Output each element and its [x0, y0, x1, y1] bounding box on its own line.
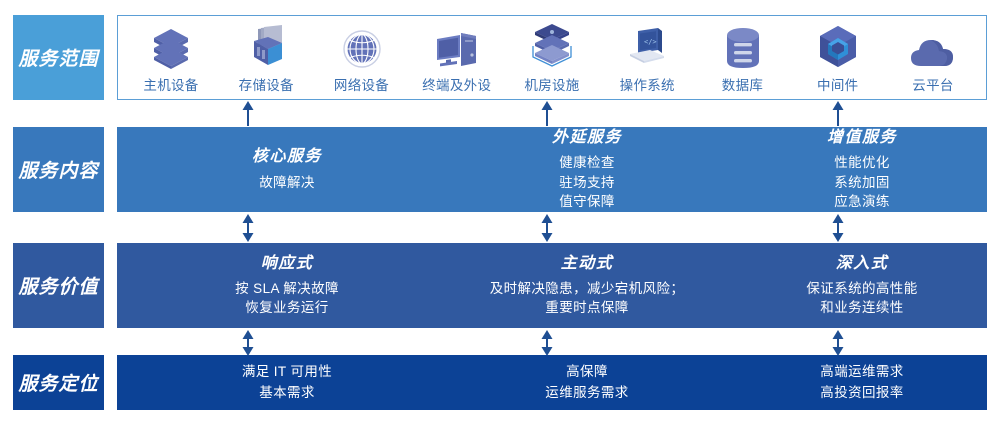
column-title: 深入式: [836, 254, 889, 273]
storage-array-icon: [246, 25, 286, 69]
panel-service-scope: 主机设备: [117, 15, 987, 100]
column-item: 健康检查: [559, 153, 615, 172]
content-column-extended[interactable]: 外延服务 健康检查 驻场支持 值守保障: [437, 127, 737, 212]
scope-item-label: 中间件: [817, 74, 858, 94]
cube-middleware-icon: [817, 25, 859, 69]
column-item: 应急演练: [834, 192, 890, 211]
svg-text:</>: </>: [644, 38, 657, 46]
column-item: 重要时点保障: [545, 298, 628, 317]
column-title: 响应式: [261, 254, 314, 273]
column-item: 基本需求: [259, 383, 315, 403]
positioning-column-assurance[interactable]: 高保障 运维服务需求: [437, 355, 737, 410]
positioning-column-basic[interactable]: 满足 IT 可用性 基本需求: [137, 355, 437, 410]
panel-service-positioning: 满足 IT 可用性 基本需求 高保障 运维服务需求 高端运维需求 高投资回报率: [117, 355, 987, 410]
scope-item-label: 数据库: [722, 74, 763, 94]
icon-strip: 主机设备: [118, 16, 986, 99]
value-column-responsive[interactable]: 响应式 按 SLA 解决故障 恢复业务运行: [137, 243, 437, 328]
column-title: 外延服务: [552, 128, 622, 147]
value-column-proactive[interactable]: 主动式 及时解决隐患，减少宕机风险； 重要时点保障: [437, 243, 737, 328]
column-item: 恢复业务运行: [245, 298, 328, 317]
column-item: 满足 IT 可用性: [242, 362, 332, 382]
column-item: 驻场支持: [559, 173, 615, 192]
row-label-text: 服务价值: [18, 272, 98, 299]
laptop-code-icon: </>: [624, 25, 670, 69]
column-item: 高投资回报率: [820, 383, 903, 403]
column-title: 增值服务: [827, 128, 897, 147]
row-label-service-scope: 服务范围: [13, 15, 104, 100]
panel-service-value: 响应式 按 SLA 解决故障 恢复业务运行 主动式 及时解决隐患，减少宕机风险；…: [117, 243, 987, 328]
column-item: 高端运维需求: [820, 362, 903, 382]
connector-value-to-position-col2: [540, 330, 554, 356]
connector-value-to-position-col3: [831, 330, 845, 356]
column-item: 值守保障: [559, 192, 615, 211]
database-cylinder-icon: [724, 25, 762, 69]
row-label-service-content: 服务内容: [13, 127, 104, 212]
positioning-columns: 满足 IT 可用性 基本需求 高保障 运维服务需求 高端运维需求 高投资回报率: [117, 355, 987, 410]
connector-scope-to-content-col3: [831, 101, 845, 126]
server-stack-icon: [151, 25, 191, 69]
scope-item-label: 存储设备: [239, 74, 294, 94]
globe-network-icon: [342, 25, 382, 69]
row-label-text: 服务内容: [18, 156, 98, 183]
scope-item-label: 机房设施: [524, 74, 579, 94]
row-label-service-value: 服务价值: [13, 243, 104, 328]
content-columns: 核心服务 故障解决 外延服务 健康检查 驻场支持 值守保障 增值服务 性能优化 …: [117, 127, 987, 212]
value-column-indepth[interactable]: 深入式 保证系统的高性能 和业务连续性: [737, 243, 987, 328]
scope-item-database[interactable]: 数据库: [704, 22, 782, 94]
content-column-core[interactable]: 核心服务 故障解决: [137, 127, 437, 212]
column-item: 系统加固: [834, 173, 890, 192]
connector-value-to-position-col1: [241, 330, 255, 356]
scope-item-terminal[interactable]: 终端及外设: [418, 22, 496, 94]
connector-content-to-value-col2: [540, 214, 554, 242]
value-columns: 响应式 按 SLA 解决故障 恢复业务运行 主动式 及时解决隐患，减少宕机风险；…: [117, 243, 987, 328]
column-item: 故障解决: [259, 173, 315, 192]
connector-content-to-value-col1: [241, 214, 255, 242]
scope-item-network[interactable]: 网络设备: [323, 22, 401, 94]
scope-item-label: 操作系统: [620, 74, 675, 94]
row-label-text: 服务定位: [18, 369, 98, 396]
row-label-text: 服务范围: [18, 44, 98, 71]
column-title: 主动式: [561, 254, 614, 273]
scope-item-label: 网络设备: [334, 74, 389, 94]
column-title: 核心服务: [252, 147, 322, 166]
desktop-pc-icon: [435, 25, 479, 69]
scope-item-middleware[interactable]: 中间件: [799, 22, 877, 94]
column-item: 保证系统的高性能: [806, 279, 917, 298]
panel-service-content: 核心服务 故障解决 外延服务 健康检查 驻场支持 值守保障 增值服务 性能优化 …: [117, 127, 987, 212]
data-center-rack-icon: [529, 25, 575, 69]
column-item: 及时解决隐患，减少宕机风险；: [490, 279, 685, 298]
column-item: 和业务连续性: [820, 298, 903, 317]
connector-content-to-value-col3: [831, 214, 845, 242]
scope-item-os[interactable]: </> 操作系统: [608, 22, 686, 94]
connector-scope-to-content-col1: [241, 101, 255, 126]
scope-item-label: 云平台: [912, 74, 953, 94]
scope-item-host[interactable]: 主机设备: [132, 22, 210, 94]
connector-scope-to-content-col2: [540, 101, 554, 126]
scope-item-label: 终端及外设: [422, 74, 491, 94]
scope-item-storage[interactable]: 存储设备: [227, 22, 305, 94]
scope-item-label: 主机设备: [143, 74, 198, 94]
service-architecture-diagram: 服务范围: [0, 0, 1000, 424]
column-item: 高保障: [566, 362, 608, 382]
column-item: 按 SLA 解决故障: [235, 279, 339, 298]
row-label-service-positioning: 服务定位: [13, 355, 104, 410]
cloud-icon: [910, 25, 956, 69]
column-item: 性能优化: [834, 153, 890, 172]
positioning-column-advanced[interactable]: 高端运维需求 高投资回报率: [737, 355, 987, 410]
content-column-value-added[interactable]: 增值服务 性能优化 系统加固 应急演练: [737, 127, 987, 212]
scope-item-cloud[interactable]: 云平台: [894, 22, 972, 94]
column-item: 运维服务需求: [545, 383, 628, 403]
scope-item-facility[interactable]: 机房设施: [513, 22, 591, 94]
